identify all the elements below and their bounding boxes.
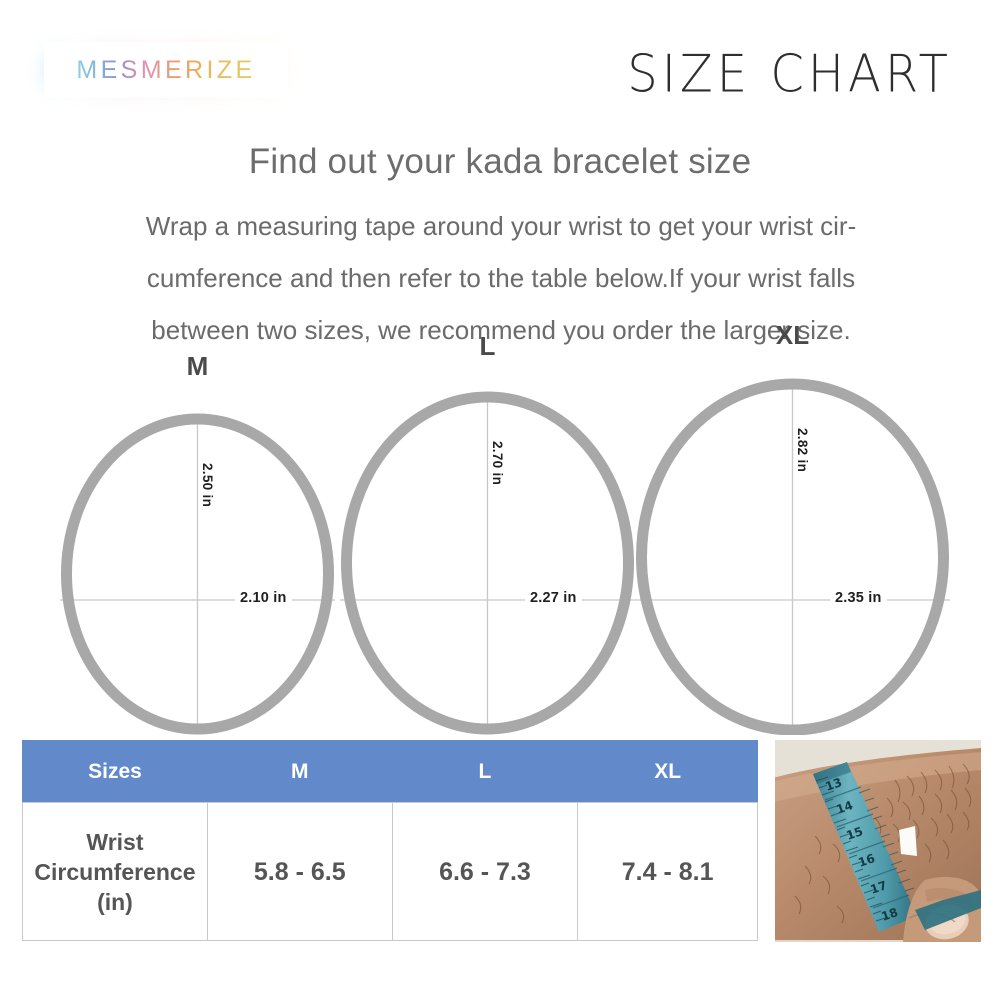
brand-logo: MESMERIZE xyxy=(44,42,288,98)
oval-height-label-l: 2.70 in xyxy=(490,441,505,485)
size-table: Sizes M L XL Wrist Circumference (in) 5.… xyxy=(22,740,758,941)
table-header-sizes: Sizes xyxy=(23,741,208,803)
row-label-wrist-circumference: Wrist Circumference (in) xyxy=(23,803,208,941)
brand-name: MESMERIZE xyxy=(76,56,255,85)
bracelet-size-diagram: M 2.50 in 2.10 in L 2.70 in 2.27 in XL xyxy=(0,340,1000,740)
size-chart-page: MESMERIZE SIZE CHART Find out your kada … xyxy=(0,0,1000,1000)
wrist-photo-illustration: 13 14 15 16 17 18 xyxy=(775,740,981,942)
page-title: SIZE CHART xyxy=(627,44,952,104)
table-header-row: Sizes M L XL xyxy=(23,741,758,803)
oval-shape-xl xyxy=(635,354,950,735)
oval-height-label-xl: 2.82 in xyxy=(795,428,810,472)
oval-label-l: L xyxy=(480,331,496,362)
row-label-line-2: Circumference xyxy=(23,857,207,887)
table-header-xl: XL xyxy=(578,741,758,803)
cell-wrist-m: 5.8 - 6.5 xyxy=(207,803,392,941)
cell-wrist-l: 6.6 - 7.3 xyxy=(392,803,578,941)
oval-shape-m xyxy=(60,385,335,735)
oval-label-xl: XL xyxy=(776,320,809,351)
oval-shape-l xyxy=(340,365,635,735)
logo-box: MESMERIZE xyxy=(44,42,288,98)
intro-paragraph: Wrap a measuring tape around your wrist … xyxy=(46,200,956,356)
oval-diagram-m: M 2.50 in 2.10 in xyxy=(60,385,335,735)
wrist-measuring-photo: 13 14 15 16 17 18 xyxy=(775,740,981,942)
row-label-line-3: (in) xyxy=(23,887,207,917)
table-row: Wrist Circumference (in) 5.8 - 6.5 6.6 -… xyxy=(23,803,758,941)
table-header-m: M xyxy=(207,741,392,803)
oval-width-label-xl: 2.35 in xyxy=(830,590,887,606)
oval-width-label-l: 2.27 in xyxy=(525,590,582,606)
headline: Find out your kada bracelet size xyxy=(0,142,1000,182)
table-header-l: L xyxy=(392,741,578,803)
cell-wrist-xl: 7.4 - 8.1 xyxy=(578,803,758,941)
oval-height-label-m: 2.50 in xyxy=(200,463,215,507)
oval-label-m: M xyxy=(187,351,209,382)
intro-line-1: Wrap a measuring tape around your wrist … xyxy=(46,200,956,252)
oval-diagram-l: L 2.70 in 2.27 in xyxy=(340,365,635,735)
intro-line-2: cumference and then refer to the table b… xyxy=(46,252,956,304)
oval-width-label-m: 2.10 in xyxy=(235,590,292,606)
oval-diagram-xl: XL 2.82 in 2.35 in xyxy=(635,354,950,735)
row-label-line-1: Wrist xyxy=(23,827,207,857)
